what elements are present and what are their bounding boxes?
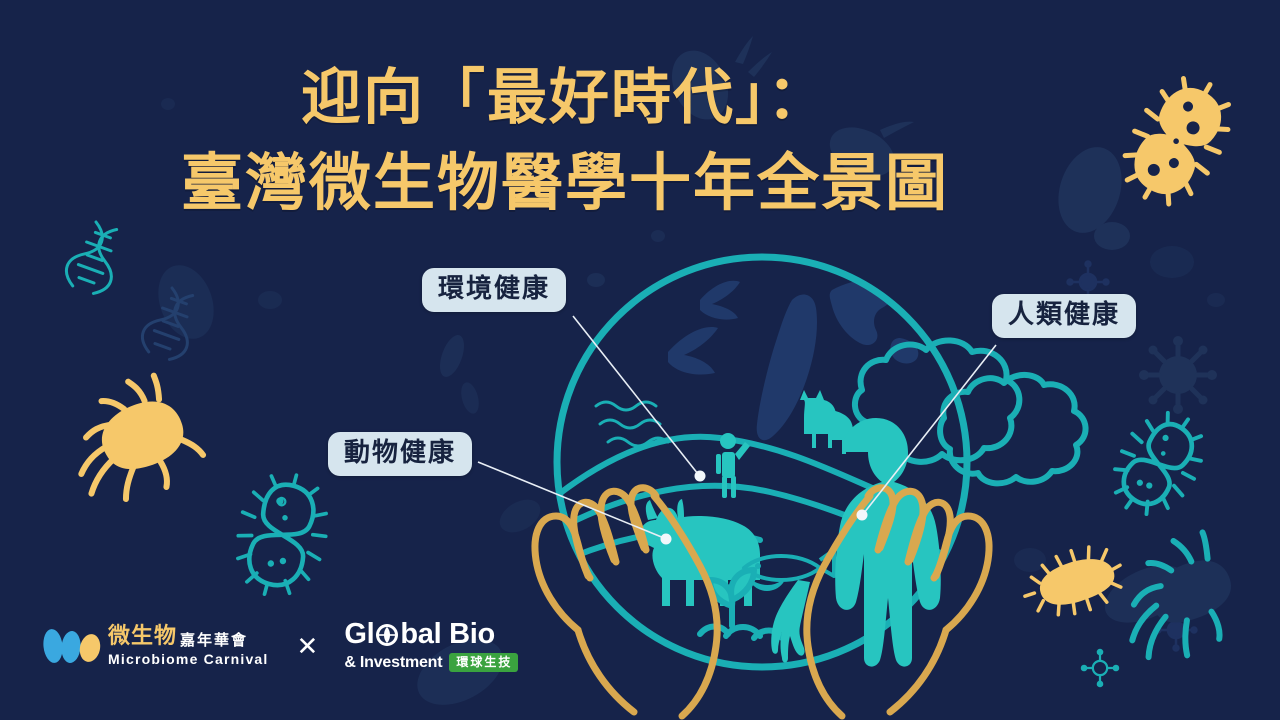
- person-waving: [716, 433, 750, 498]
- terrain-lines: [545, 437, 950, 556]
- landmass-silhouette: [830, 275, 973, 363]
- bird-silhouette: [668, 281, 740, 375]
- bacterium-teal-outline-left: [224, 464, 339, 605]
- title-line-1: 迎向「最好時代」：: [0, 62, 1130, 135]
- global-bio-investment: & Investment: [344, 655, 442, 671]
- waves-icon: [596, 402, 668, 446]
- global-bio-text-a: Gl: [344, 620, 374, 649]
- callout-human-health[interactable]: 人類健康: [992, 294, 1136, 338]
- logo-separator-x: ✕: [297, 633, 319, 659]
- poster-title: 迎向「最好時代」： 臺灣微生物醫學十年全景圖: [0, 62, 1130, 221]
- poster-canvas: 迎向「最好時代」： 臺灣微生物醫學十年全景圖 環境健康 動物健康 人類健康 微生…: [0, 0, 1280, 720]
- footer-logo-bar: 微生物 嘉年華會 Microbiome Carnival ✕ Gl b: [42, 620, 518, 672]
- dna-helix-dark: [137, 284, 203, 364]
- callout-environment-health[interactable]: 環境健康: [422, 268, 566, 312]
- cow-small: [800, 390, 853, 454]
- bacterium-teal-outline-right: [1096, 398, 1220, 530]
- globe-interior: [596, 275, 972, 446]
- human-figure: [771, 418, 941, 667]
- microbiome-carnival-logo[interactable]: 微生物 嘉年華會 Microbiome Carnival: [42, 626, 269, 666]
- cupped-hands-icon: [535, 488, 989, 716]
- virus-dark: [1139, 336, 1217, 414]
- bacterium-gold-solid-left: [56, 366, 209, 515]
- global-bio-logo[interactable]: Gl bal Bio & Investment 環球生技: [344, 620, 518, 672]
- globe-o-icon: [374, 622, 400, 648]
- seedling-icon: [700, 570, 782, 638]
- title-line-2: 臺灣微生物醫學十年全景圖: [0, 145, 1130, 221]
- globe-circle: [557, 257, 967, 667]
- fish-icon: [744, 550, 834, 590]
- leader-line-icon: [478, 316, 996, 538]
- carnival-en-name: Microbiome Carnival: [108, 652, 269, 666]
- bacterium-teal-solid-bottom-right: [1102, 526, 1251, 673]
- global-bio-cn-badge: 環球生技: [449, 653, 518, 672]
- trees-icon: [855, 340, 1086, 483]
- taiwan-map-silhouette: [757, 294, 817, 440]
- carnival-cn-sub: 嘉年華會: [180, 633, 248, 648]
- cow-large: [640, 499, 760, 606]
- dna-helix-teal: [61, 218, 127, 298]
- bacterium-gold-solid-bottom-right: [1016, 538, 1130, 628]
- carnival-cn-main: 微生物: [108, 626, 177, 648]
- microbiome-blobs-icon: [42, 626, 102, 666]
- callout-animal-health[interactable]: 動物健康: [328, 432, 472, 476]
- leader-dot-icon: [661, 471, 868, 545]
- global-bio-text-b: bal Bio: [400, 620, 495, 649]
